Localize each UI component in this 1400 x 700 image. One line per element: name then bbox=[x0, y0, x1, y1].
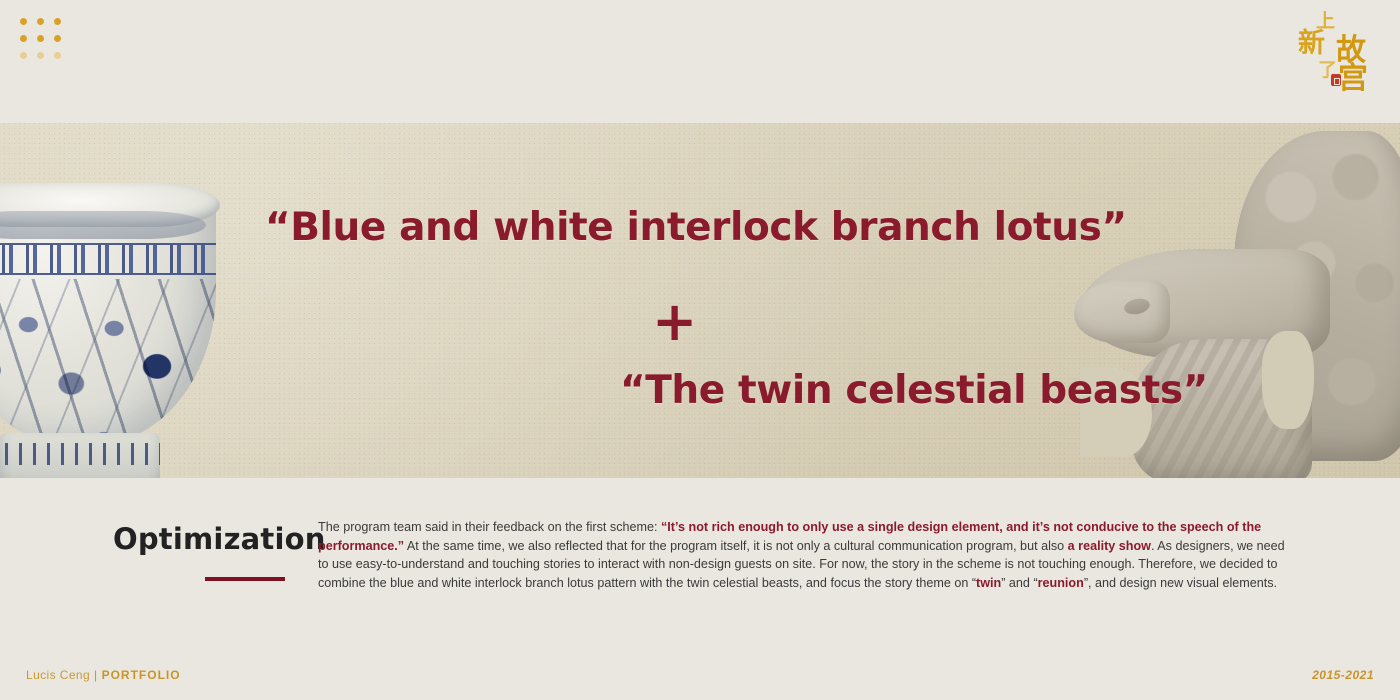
slide-footer: Lucis Ceng|PORTFOLIO 2015-2021 bbox=[0, 644, 1400, 700]
para-highlight-twin: twin bbox=[976, 576, 1001, 590]
para-segment-4: ”, and design new visual elements. bbox=[1084, 576, 1277, 590]
hero-headline-lotus: “Blue and white interlock branch lotus” bbox=[265, 205, 1127, 250]
para-quote-mid: ” and “ bbox=[1001, 576, 1037, 590]
logo-characters: 上 新 了 故 宫 bbox=[1286, 6, 1382, 106]
para-highlight-reality-show: a reality show bbox=[1068, 539, 1151, 553]
dot bbox=[20, 52, 27, 59]
red-seal-icon bbox=[1331, 74, 1341, 86]
hero-banner: “Blue and white interlock branch lotus” … bbox=[0, 123, 1400, 478]
footer-brand: PORTFOLIO bbox=[102, 668, 181, 682]
footer-author: Lucis Ceng bbox=[26, 668, 90, 682]
slide-root: 上 新 了 故 宫 bbox=[0, 0, 1400, 700]
footer-credit: Lucis Ceng|PORTFOLIO bbox=[26, 668, 181, 682]
body-paragraph: The program team said in their feedback … bbox=[318, 518, 1298, 592]
dot bbox=[20, 18, 27, 25]
plus-symbol-icon: + bbox=[652, 295, 697, 349]
hero-headline-beasts: “The twin celestial beasts” bbox=[620, 368, 1208, 413]
dot bbox=[54, 18, 61, 25]
dot bbox=[54, 35, 61, 42]
dot bbox=[37, 18, 44, 25]
dot bbox=[37, 52, 44, 59]
footer-years: 2015-2021 bbox=[1312, 668, 1374, 682]
logo-char-gong: 宫 bbox=[1338, 64, 1368, 94]
dot bbox=[37, 35, 44, 42]
dot bbox=[20, 35, 27, 42]
title-underline-rule bbox=[205, 577, 285, 581]
page-title: Optimization bbox=[113, 522, 326, 556]
hero-text-block: “Blue and white interlock branch lotus” … bbox=[0, 123, 1400, 478]
para-segment-1: The program team said in their feedback … bbox=[318, 520, 661, 534]
dot-grid-decoration bbox=[20, 18, 64, 62]
para-segment-2: At the same time, we also reflected that… bbox=[404, 539, 1068, 553]
para-highlight-reunion: reunion bbox=[1038, 576, 1084, 590]
lower-content: Optimization The program team said in th… bbox=[0, 478, 1400, 638]
dot bbox=[54, 52, 61, 59]
logo-char-xin: 新 bbox=[1298, 30, 1325, 57]
shangxinle-gugong-logo: 上 新 了 故 宫 bbox=[1286, 6, 1382, 106]
footer-separator: | bbox=[94, 668, 98, 682]
